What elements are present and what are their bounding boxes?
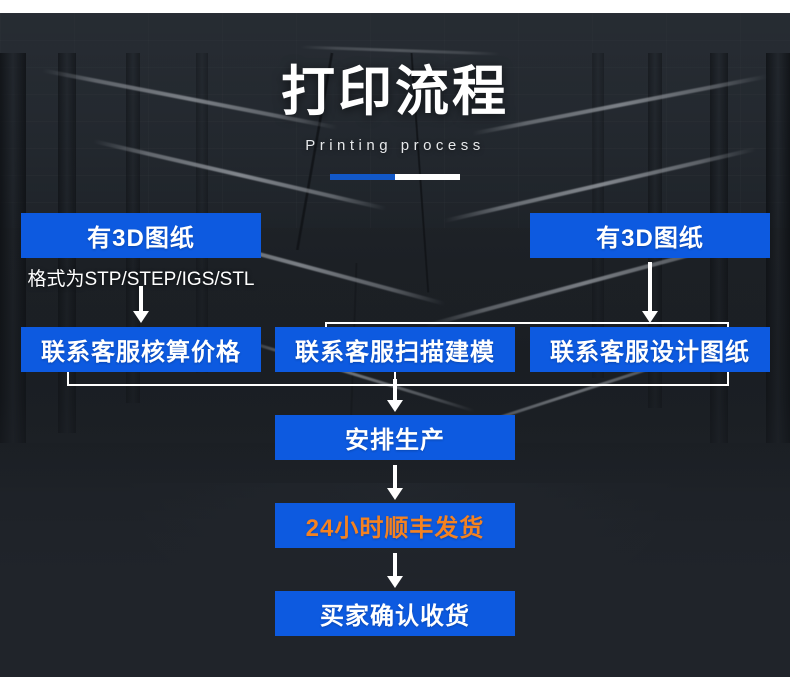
flow-node-contact-support-quote[interactable]: 联系客服核算价格 bbox=[21, 327, 261, 372]
arrow-down-icon bbox=[133, 286, 149, 322]
printing-process-infographic: 打印流程 Printing process 有3D图纸 有3D图纸 格式为STP… bbox=[0, 0, 790, 696]
arrow-down-icon bbox=[387, 553, 403, 587]
connector-bracket-top bbox=[325, 322, 729, 324]
flow-node-has-3d-drawing-left[interactable]: 有3D图纸 bbox=[21, 213, 261, 258]
infographic-stage: 打印流程 Printing process 有3D图纸 有3D图纸 格式为STP… bbox=[0, 13, 790, 677]
arrow-down-icon bbox=[387, 379, 403, 411]
flow-node-24h-sf-express-shipping[interactable]: 24小时顺丰发货 bbox=[275, 503, 515, 548]
process-flowchart: 有3D图纸 有3D图纸 格式为STP/STEP/IGS/STL 联系客服核算价格… bbox=[0, 13, 790, 677]
flow-node-arrange-production[interactable]: 安排生产 bbox=[275, 415, 515, 460]
flow-node-has-3d-drawing-right[interactable]: 有3D图纸 bbox=[530, 213, 770, 258]
flow-node-contact-support-design-drawing[interactable]: 联系客服设计图纸 bbox=[530, 327, 770, 372]
flow-node-contact-support-scan-model[interactable]: 联系客服扫描建模 bbox=[275, 327, 515, 372]
arrow-down-icon bbox=[642, 262, 658, 322]
flow-node-buyer-confirm-receipt[interactable]: 买家确认收货 bbox=[275, 591, 515, 636]
arrow-down-icon bbox=[387, 465, 403, 499]
